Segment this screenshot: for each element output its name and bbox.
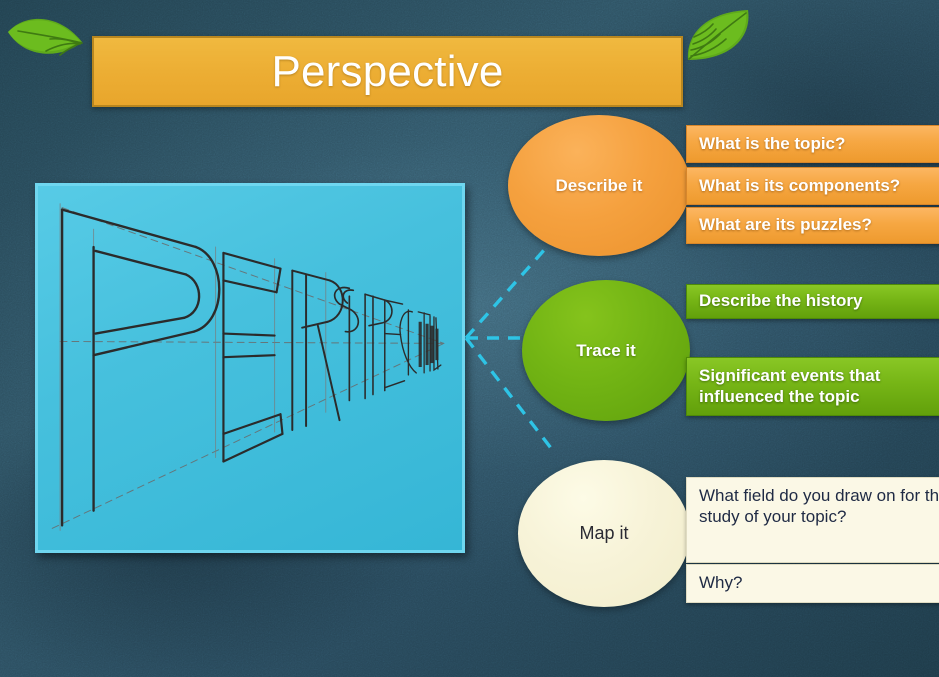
perspective-illustration [35,183,465,553]
page-title: Perspective [271,50,503,94]
detail-bar-why[interactable]: Why? [686,564,939,603]
branch-oval-map[interactable]: Map it [518,460,690,607]
detail-bar-history[interactable]: Describe the history [686,284,939,319]
branch-oval-describe[interactable]: Describe it [508,115,690,256]
branch-label-describe: Describe it [556,176,643,196]
slide-canvas: Perspective [0,0,939,677]
branch-oval-trace[interactable]: Trace it [522,280,690,421]
branch-label-trace: Trace it [576,341,636,361]
detail-bar-components[interactable]: What is its components? [686,167,939,205]
detail-bar-puzzles[interactable]: What are its puzzles? [686,207,939,244]
leaf-icon [6,12,86,64]
slide-title-bar: Perspective [92,36,683,107]
detail-bar-field[interactable]: What field do you draw on for the study … [686,477,939,563]
leaf-icon [682,8,760,64]
detail-bar-events[interactable]: Significant events that influenced the t… [686,357,939,416]
detail-bar-topic[interactable]: What is the topic? [686,125,939,163]
branch-label-map: Map it [579,523,628,544]
